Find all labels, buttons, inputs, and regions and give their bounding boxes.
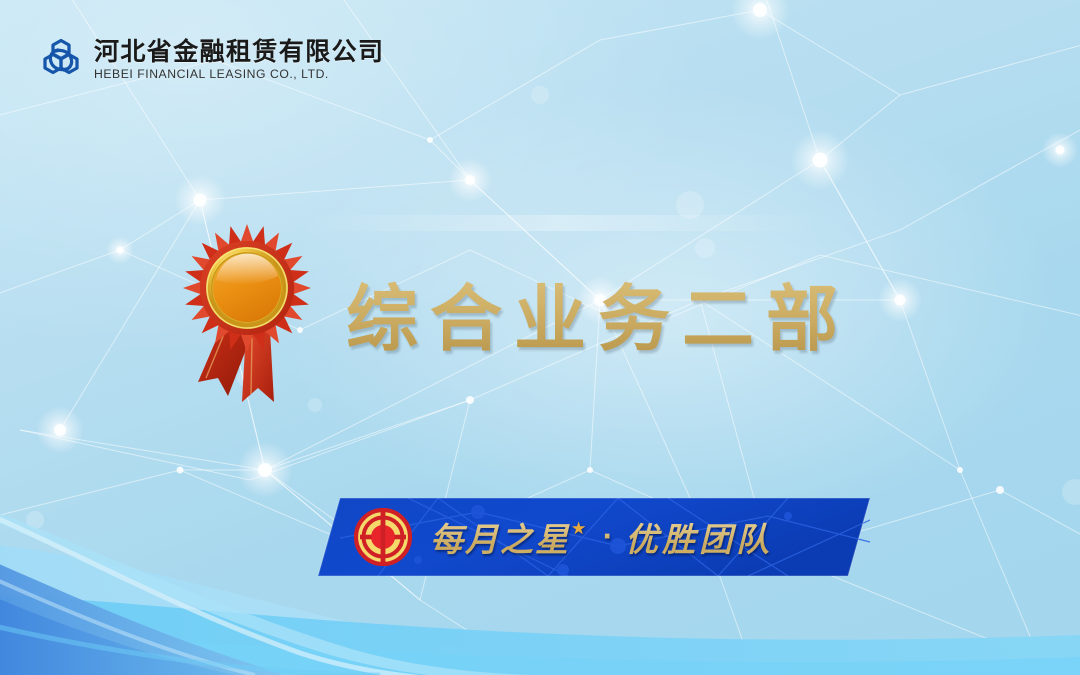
header-logo: 河北省金融租赁有限公司 HEBEI FINANCIAL LEASING CO.,… <box>38 36 384 84</box>
award-banner: 每月之星 ★ · 优胜团队 <box>318 498 870 576</box>
company-name-cn: 河北省金融租赁有限公司 <box>94 38 384 66</box>
banner-text-left: 每月之星 <box>430 513 570 561</box>
award-slide: 河北省金融租赁有限公司 HEBEI FINANCIAL LEASING CO.,… <box>0 0 1080 675</box>
banner-separator: · <box>602 522 612 552</box>
star-icon: ★ <box>571 519 586 539</box>
title-row: 综合业务二部 <box>178 222 850 406</box>
company-name-en: HEBEI FINANCIAL LEASING CO., LTD. <box>94 67 384 82</box>
chinese-labor-union-emblem-icon <box>354 508 412 566</box>
banner-content: 每月之星 ★ · 优胜团队 <box>318 498 870 576</box>
logo-text-block: 河北省金融租赁有限公司 HEBEI FINANCIAL LEASING CO.,… <box>94 38 384 82</box>
page-title: 综合业务二部 <box>346 254 850 375</box>
banner-text-right: 优胜团队 <box>625 513 773 561</box>
hebei-financial-leasing-hexagon-logo-icon <box>38 36 84 84</box>
banner-text: 每月之星 ★ · 优胜团队 <box>430 513 773 561</box>
rosette-award-ribbon-icon <box>178 222 322 406</box>
